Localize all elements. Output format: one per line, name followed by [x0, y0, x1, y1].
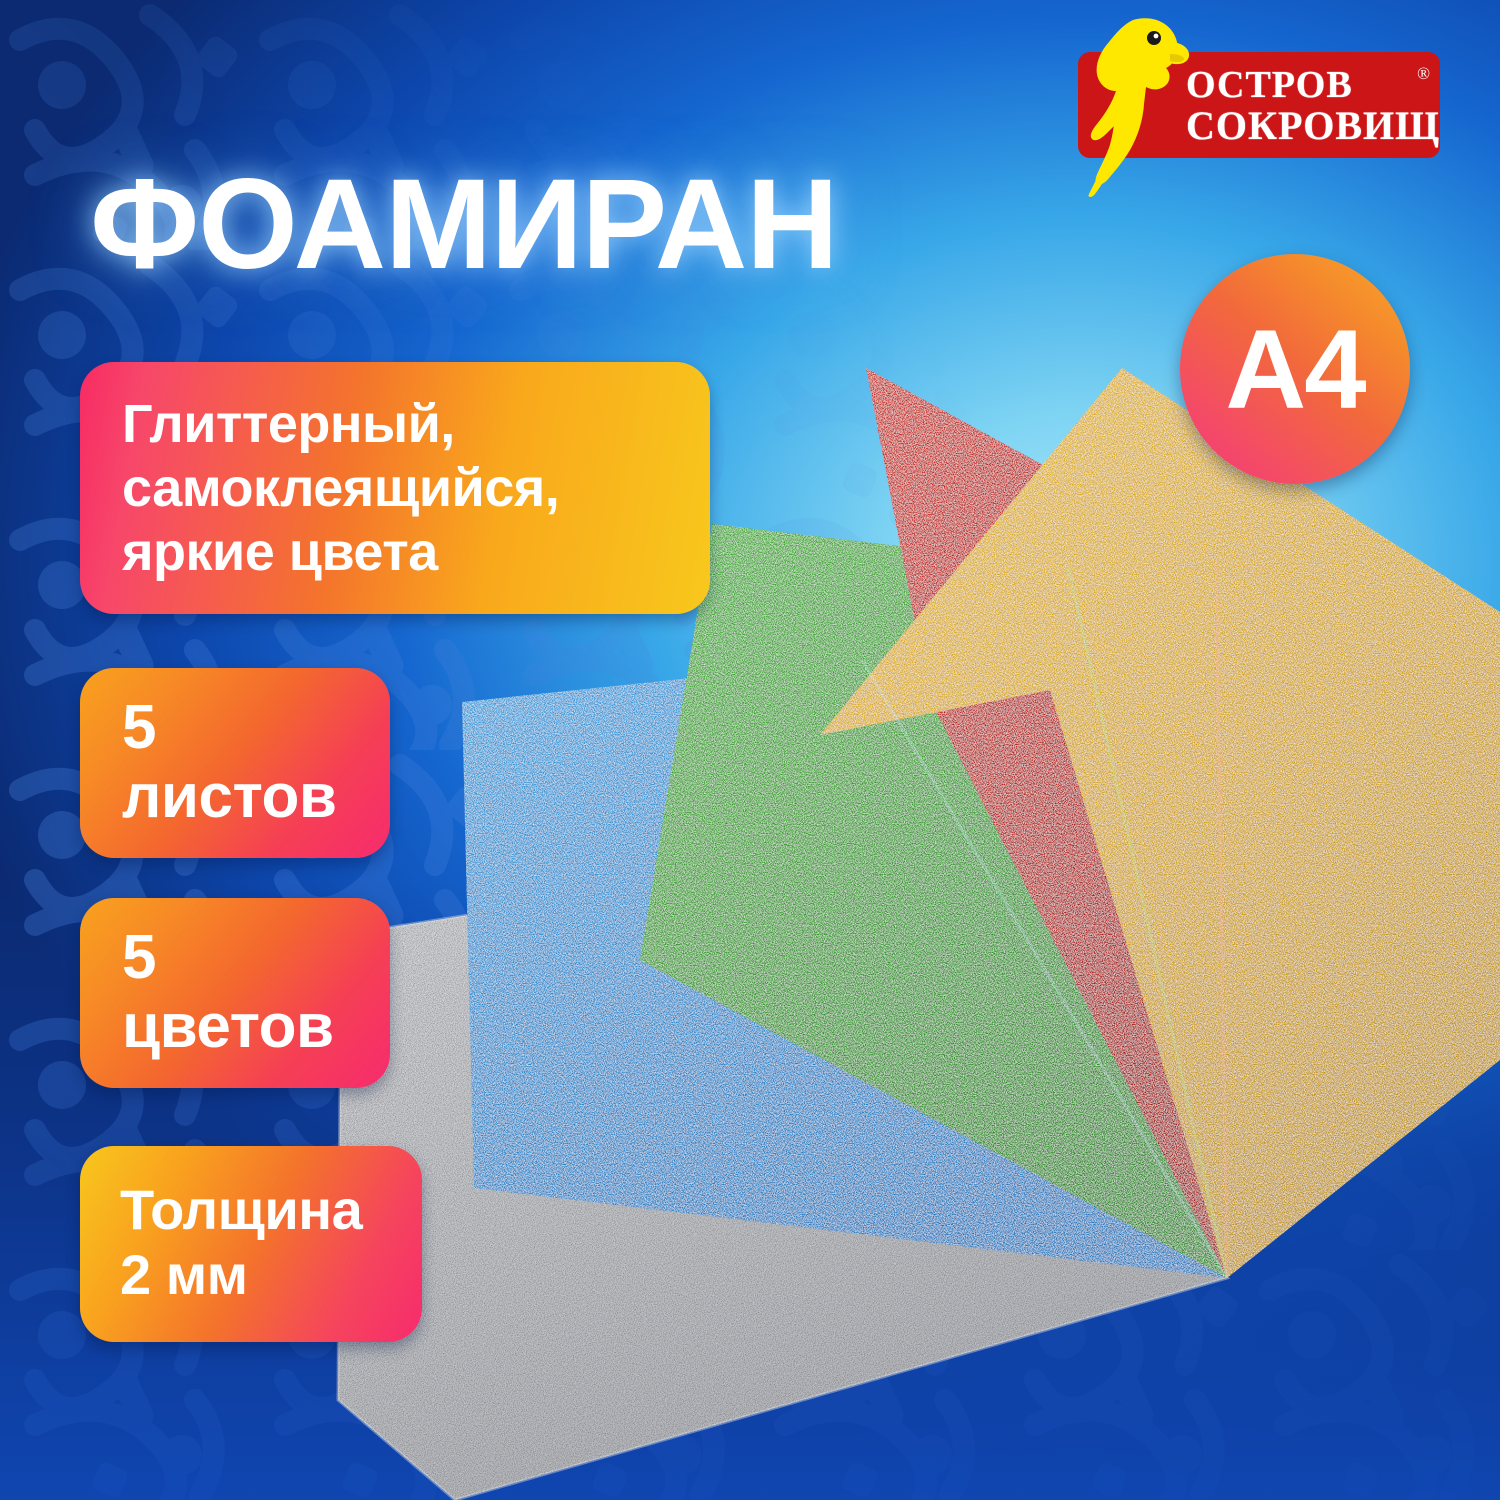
badge-sheet-count-unit: листов	[122, 762, 390, 831]
logo-line-1: ОСТРОВ	[1186, 66, 1353, 104]
badge-features-line-1: Глиттерный,	[122, 392, 710, 456]
badge-features-line-3: яркие цвета	[122, 520, 710, 584]
badge-features: Глиттерный, самоклеящийся, яркие цвета	[80, 362, 710, 614]
logo-line-2: СОКРОВИЩ	[1186, 106, 1440, 146]
badge-features-line-2: самоклеящийся,	[122, 456, 710, 520]
size-badge-a4: A4	[1180, 254, 1410, 484]
badge-thickness-label: Толщина	[120, 1178, 422, 1243]
badge-color-count: 5 цветов	[80, 898, 390, 1088]
parrot-icon	[1070, 8, 1200, 198]
brand-logo: ОСТРОВ СОКРОВИЩ ®	[1078, 52, 1440, 158]
badge-sheet-count: 5 листов	[80, 668, 390, 858]
logo-wordmark: ОСТРОВ СОКРОВИЩ	[1186, 58, 1436, 154]
product-card: ОСТРОВ СОКРОВИЩ ® ФОАМИРАН Глиттерный, с…	[0, 0, 1500, 1500]
registered-mark: ®	[1417, 64, 1430, 84]
badge-thickness: Толщина 2 мм	[80, 1146, 422, 1342]
page-title: ФОАМИРАН	[90, 158, 838, 292]
badge-sheet-count-number: 5	[122, 693, 390, 762]
badge-thickness-value: 2 мм	[120, 1243, 422, 1308]
badge-color-count-unit: цветов	[122, 992, 390, 1061]
badge-color-count-number: 5	[122, 923, 390, 992]
